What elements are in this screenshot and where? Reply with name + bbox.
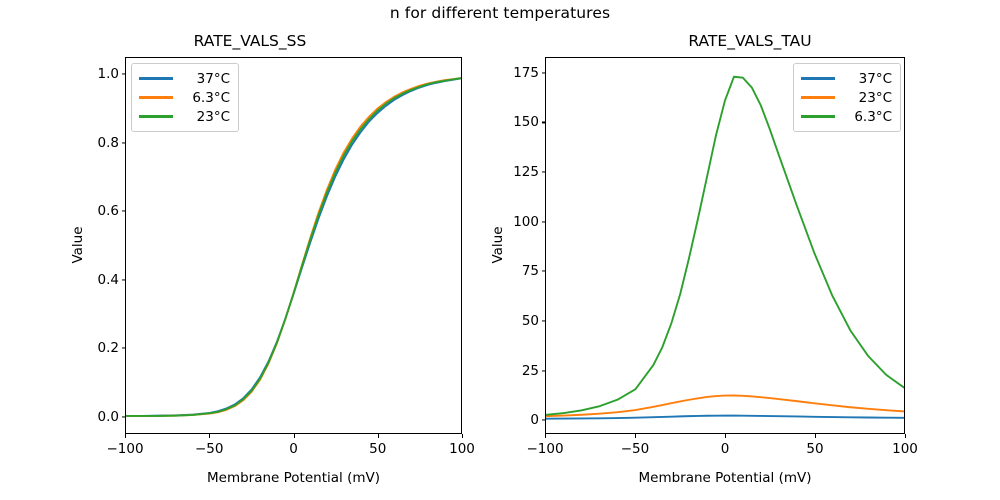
- legend-color-swatch: [139, 96, 173, 98]
- x-tick-mark: [635, 434, 636, 438]
- x-tick-label: 0: [289, 441, 298, 457]
- legend-item[interactable]: 6.3°C: [139, 88, 230, 107]
- y-tick-label: 150: [499, 114, 539, 130]
- y-tick-label: 0.8: [79, 135, 119, 151]
- y-axis-label-right: Value: [490, 226, 506, 263]
- x-tick-mark: [294, 434, 295, 438]
- x-axis-label-left: Membrane Potential (mV): [207, 470, 380, 486]
- x-tick-mark: [815, 434, 816, 438]
- y-tick-label: 0.4: [79, 272, 119, 288]
- y-tick-mark: [122, 74, 126, 75]
- y-tick-label: 125: [499, 164, 539, 180]
- x-tick-mark: [905, 434, 906, 438]
- legend-item[interactable]: 23°C: [139, 107, 230, 126]
- legend-label: 23°C: [183, 109, 230, 125]
- legend-label: 23°C: [845, 90, 892, 106]
- y-tick-mark: [542, 172, 546, 173]
- legend-right[interactable]: 37°C23°C6.3°C: [793, 63, 901, 132]
- y-tick-mark: [122, 142, 126, 143]
- legend-color-swatch: [801, 115, 835, 117]
- legend-color-swatch: [139, 115, 173, 117]
- legend-label: 6.3°C: [845, 109, 892, 125]
- y-tick-label: 75: [499, 263, 539, 279]
- x-tick-mark: [378, 434, 379, 438]
- y-tick-mark: [542, 370, 546, 371]
- x-tick-label: 100: [892, 441, 918, 457]
- subplot-rate-vals-ss: RATE_VALS_SS 0.00.20.40.60.81.0 −100−500…: [0, 0, 500, 500]
- legend-item[interactable]: 37°C: [801, 69, 892, 88]
- y-tick-mark: [122, 279, 126, 280]
- series-line: [546, 416, 904, 419]
- y-axis-label-left: Value: [70, 226, 86, 263]
- y-tick-mark: [542, 221, 546, 222]
- legend-item[interactable]: 6.3°C: [801, 107, 892, 126]
- y-tick-label: 50: [499, 313, 539, 329]
- y-tick-mark: [542, 271, 546, 272]
- x-tick-label: −100: [106, 441, 143, 457]
- x-tick-label: −50: [621, 441, 650, 457]
- matplotlib-figure: n for different temperatures RATE_VALS_S…: [0, 0, 1000, 500]
- legend-label: 37°C: [183, 71, 230, 87]
- y-tick-mark: [122, 348, 126, 349]
- x-tick-mark: [545, 434, 546, 438]
- y-tick-label: 0.0: [79, 409, 119, 425]
- x-tick-label: 50: [369, 441, 386, 457]
- x-tick-label: 50: [806, 441, 823, 457]
- x-tick-label: −50: [195, 441, 224, 457]
- y-tick-label: 0.2: [79, 340, 119, 356]
- legend-label: 37°C: [845, 71, 892, 87]
- y-tick-mark: [542, 420, 546, 421]
- y-tick-label: 1.0: [79, 66, 119, 82]
- x-tick-mark: [125, 434, 126, 438]
- y-tick-label: 25: [499, 363, 539, 379]
- subplot-title-right: RATE_VALS_TAU: [500, 32, 1000, 50]
- x-tick-label: 100: [449, 441, 475, 457]
- x-axis-label-right: Membrane Potential (mV): [638, 470, 811, 486]
- x-tick-mark: [209, 434, 210, 438]
- x-tick-label: 0: [721, 441, 730, 457]
- legend-label: 6.3°C: [183, 90, 230, 106]
- y-tick-mark: [122, 211, 126, 212]
- y-tick-label: 0: [499, 412, 539, 428]
- y-tick-label: 175: [499, 65, 539, 81]
- subplot-rate-vals-tau: RATE_VALS_TAU 0255075100125150175 −100−5…: [500, 0, 1000, 500]
- y-tick-mark: [542, 72, 546, 73]
- y-tick-mark: [122, 416, 126, 417]
- subplot-title-left: RATE_VALS_SS: [0, 32, 500, 50]
- x-tick-label: −100: [526, 441, 563, 457]
- legend-color-swatch: [139, 77, 173, 79]
- x-tick-mark: [725, 434, 726, 438]
- legend-item[interactable]: 37°C: [139, 69, 230, 88]
- y-tick-mark: [542, 122, 546, 123]
- legend-item[interactable]: 23°C: [801, 88, 892, 107]
- y-tick-label: 0.6: [79, 203, 119, 219]
- y-tick-mark: [542, 320, 546, 321]
- legend-left[interactable]: 37°C6.3°C23°C: [131, 63, 239, 132]
- x-tick-mark: [462, 434, 463, 438]
- legend-color-swatch: [801, 77, 835, 79]
- legend-color-swatch: [801, 96, 835, 98]
